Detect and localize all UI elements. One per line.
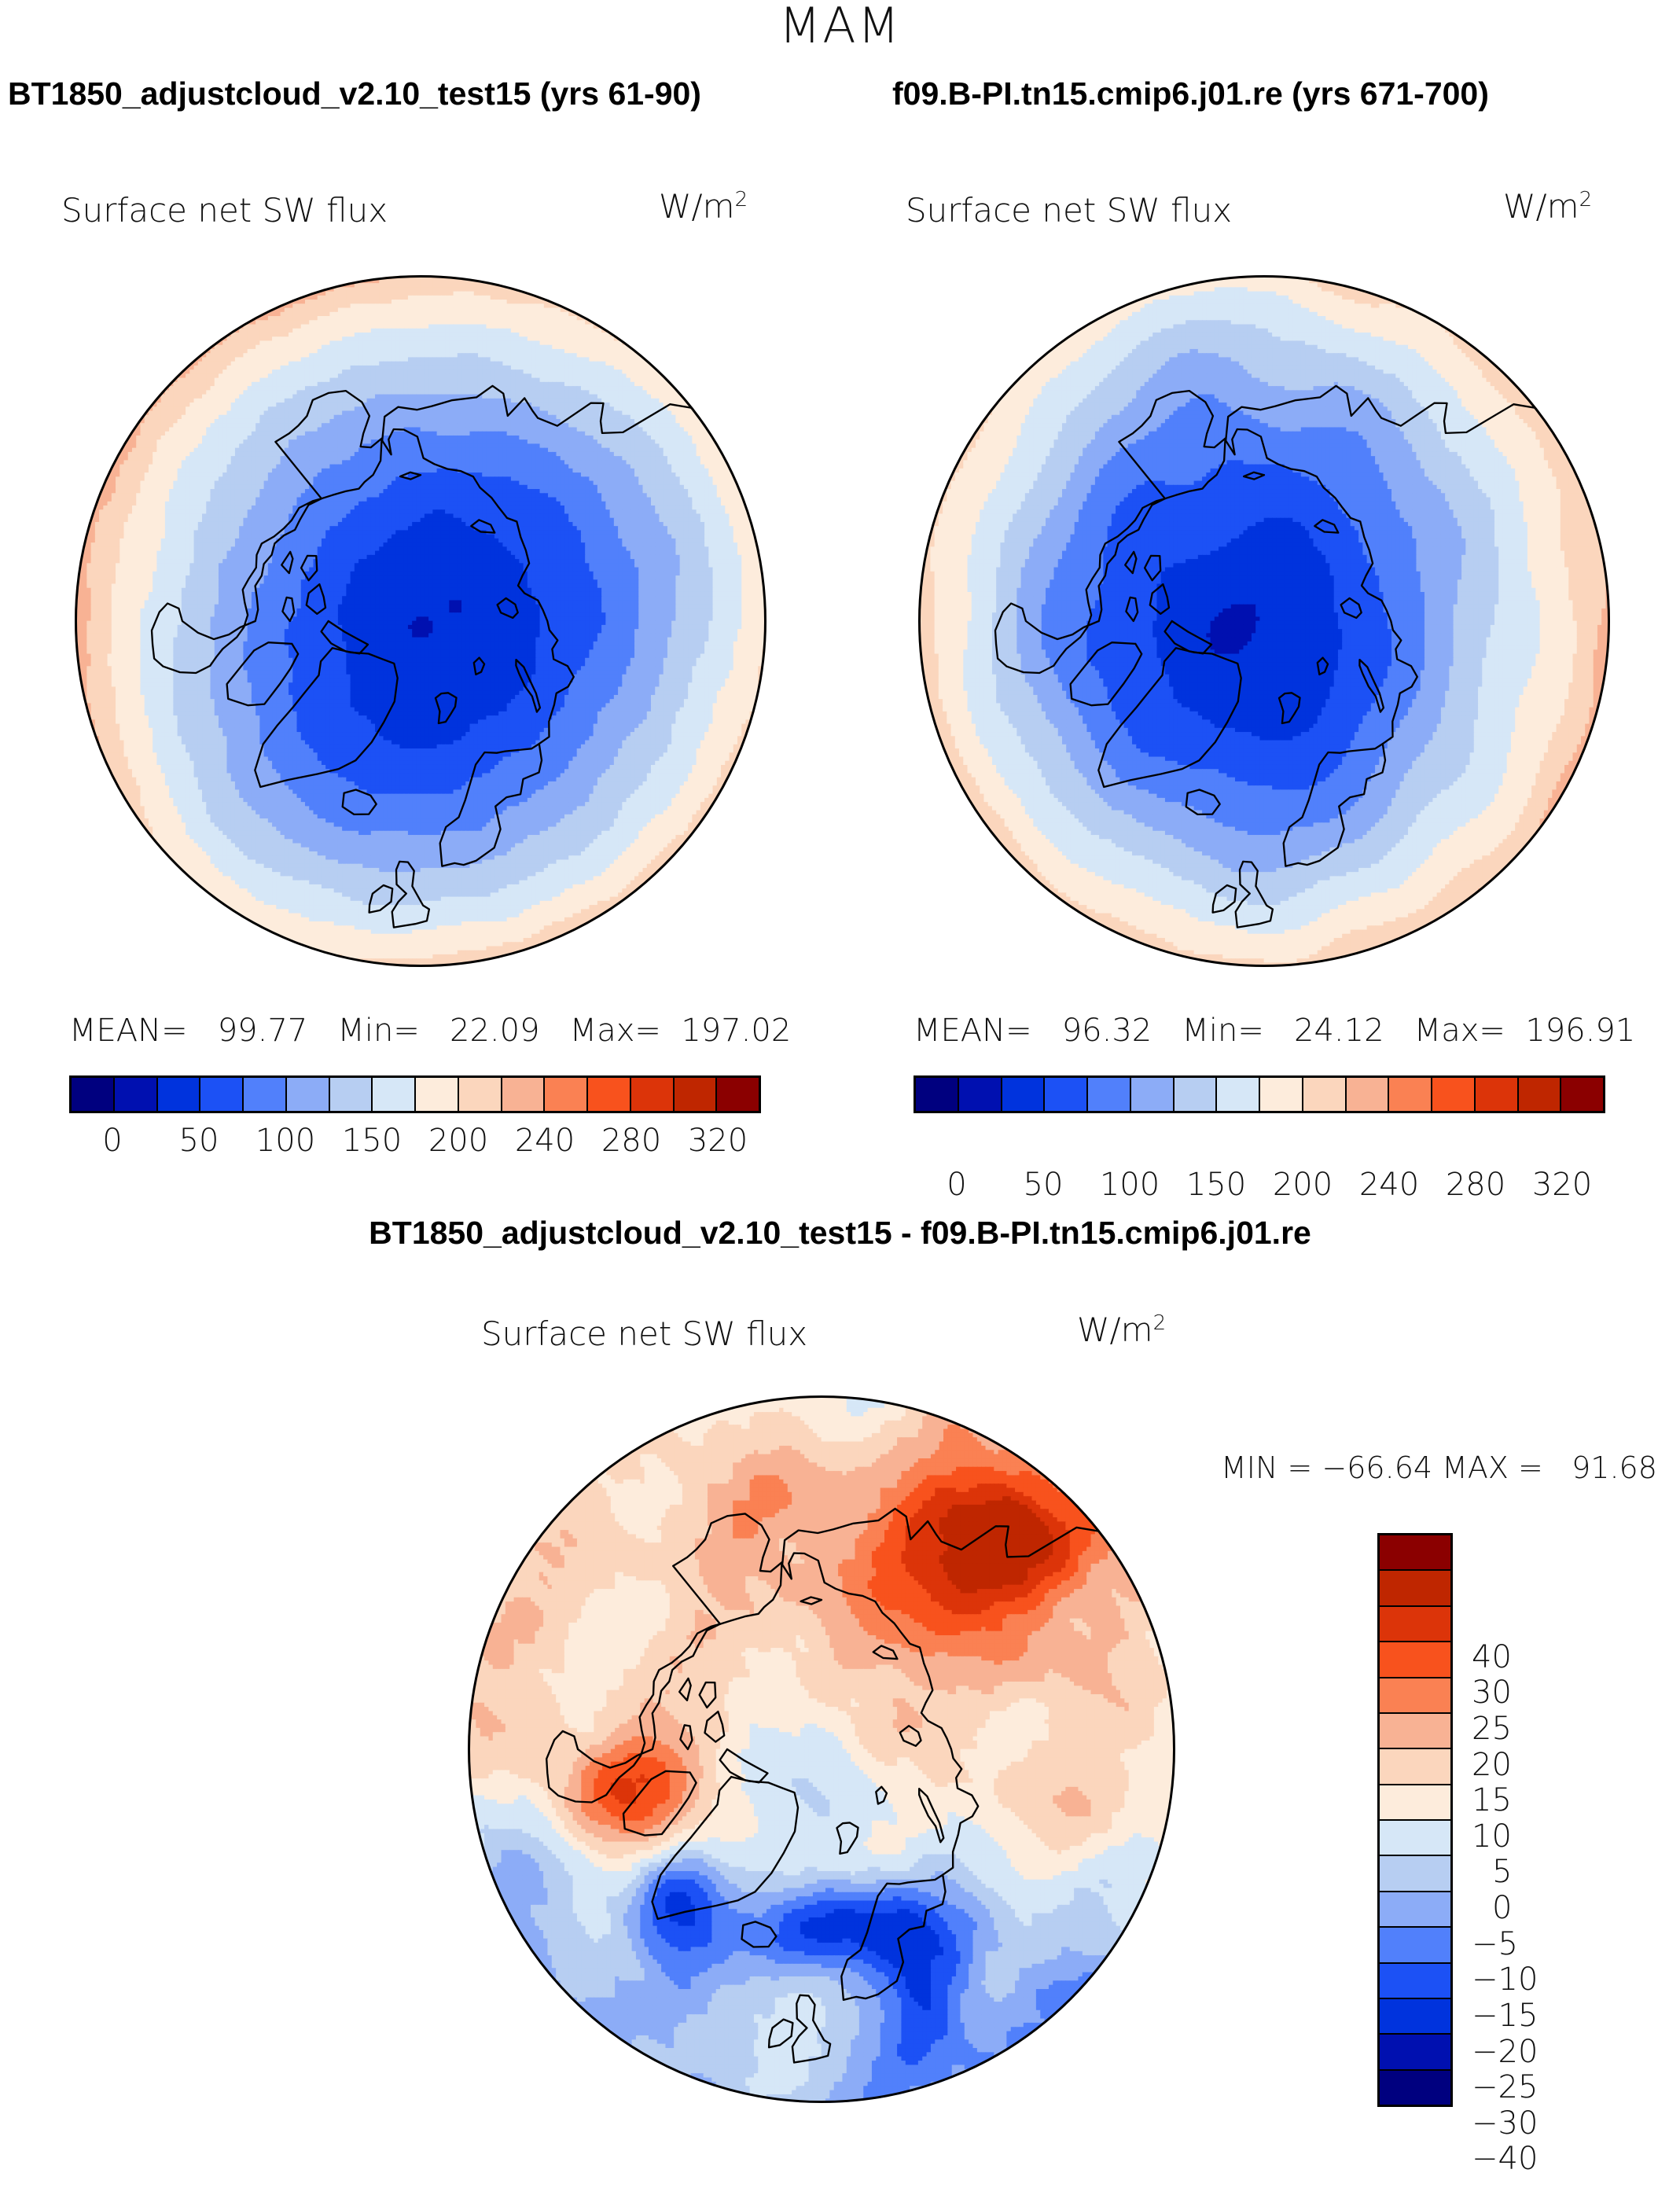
colorbar-segment: [330, 1078, 373, 1111]
colorbar-segment: [200, 1078, 244, 1111]
colorbar-tick-label: 0: [102, 1123, 122, 1159]
colorbar-tick-label: −5: [1472, 1926, 1518, 1962]
colorbar-segment: [115, 1078, 158, 1111]
colorbar-tick-label: 50: [179, 1123, 219, 1159]
colorbar-tick-label: 200: [428, 1123, 488, 1159]
colorbar-segment: [1380, 1571, 1450, 1606]
colorbar-segment: [1561, 1078, 1603, 1111]
colorbar-segment: [1380, 1535, 1450, 1571]
colorbar-tick-label: 15: [1472, 1782, 1512, 1818]
colorbar-segment: [1380, 1607, 1450, 1642]
minmax-diff: MIN = −66.64 MAX = 91.68: [1221, 1450, 1657, 1485]
colorbar-tick-label: −10: [1472, 1962, 1538, 1998]
colorbar-segment: [1432, 1078, 1476, 1111]
colorbar-segment: [1217, 1078, 1260, 1111]
colorbar-segment: [1389, 1078, 1432, 1111]
colorbar-segment: [675, 1078, 718, 1111]
colorbar-tick-label: 150: [1186, 1167, 1246, 1203]
colorbar-segment: [1476, 1078, 1519, 1111]
colorbar-tick-label: 100: [255, 1123, 315, 1159]
colorbar-diff[interactable]: [1377, 1533, 1453, 2107]
colorbar-tick-label: 50: [1024, 1167, 1064, 1203]
colorbar-tick-label: 240: [1359, 1167, 1419, 1203]
colorbar-segment: [1380, 1678, 1450, 1714]
map-right[interactable]: [918, 275, 1610, 967]
colorbar-tick-label: 25: [1472, 1711, 1512, 1747]
colorbar-tick-label: 100: [1100, 1167, 1160, 1203]
colorbar-segment: [631, 1078, 675, 1111]
colorbar-segment: [1380, 1714, 1450, 1749]
colorbar-tick-label: 320: [1532, 1167, 1592, 1203]
map-raster: [468, 1395, 1175, 2103]
unit-label-right: W/m2: [1503, 187, 1592, 226]
colorbar-segment: [1175, 1078, 1218, 1111]
colorbar-segment: [158, 1078, 201, 1111]
diff-title: BT1850_adjustcloud_v2.10_test15 - f09.B-…: [0, 1215, 1680, 1252]
colorbar-segment: [1303, 1078, 1347, 1111]
colorbar-segment: [1380, 1821, 1450, 1856]
colorbar-segment: [416, 1078, 459, 1111]
colorbar-segment: [717, 1078, 759, 1111]
colorbar-tick-label: 30: [1472, 1675, 1512, 1711]
colorbar-segment: [916, 1078, 959, 1111]
colorbar-tick-label: 40: [1472, 1639, 1512, 1675]
colorbar-segment: [502, 1078, 546, 1111]
colorbar-segment: [373, 1078, 416, 1111]
colorbar-segment: [1380, 1964, 1450, 1999]
colorbar-segment: [1380, 1892, 1450, 1928]
map-raster: [918, 275, 1610, 967]
stats-left: MEAN= 99.77 Min= 22.09 Max= 197.02: [69, 1013, 791, 1049]
colorbar-segment: [1045, 1078, 1088, 1111]
case-title-left: BT1850_adjustcloud_v2.10_test15 (yrs 61-…: [8, 75, 701, 112]
colorbar-segment: [459, 1078, 502, 1111]
colorbar-segment: [1380, 1785, 1450, 1821]
colorbar-segment: [545, 1078, 588, 1111]
colorbar-segment: [244, 1078, 287, 1111]
unit-label-left: W/m2: [659, 187, 748, 226]
colorbar-tick-label: 10: [1472, 1818, 1512, 1855]
colorbar-tick-label: 0: [947, 1167, 966, 1203]
field-label-diff: Surface net SW flux: [481, 1314, 807, 1353]
unit-exponent-right: 2: [1579, 188, 1593, 211]
colorbar-tick-label: 280: [601, 1123, 661, 1159]
colorbar-tick-label: 240: [515, 1123, 575, 1159]
colorbar-tick-label: −30: [1472, 2105, 1538, 2142]
colorbar-segment: [1380, 1749, 1450, 1785]
unit-text-right: W/m: [1503, 187, 1579, 226]
colorbar-segment: [1260, 1078, 1303, 1111]
colorbar-segment: [588, 1078, 631, 1111]
colorbar-tick-label: 280: [1446, 1167, 1505, 1203]
colorbar-segment: [1380, 2071, 1450, 2105]
colorbar-segment: [287, 1078, 330, 1111]
colorbar-left-labels: 050100150200240280320: [69, 1123, 761, 1167]
colorbar-tick-label: 0: [1492, 1890, 1512, 1926]
colorbar-tick-label: 320: [688, 1123, 748, 1159]
colorbar-tick-label: 5: [1492, 1854, 1512, 1890]
colorbar-tick-label: 150: [342, 1123, 402, 1159]
colorbar-left[interactable]: [69, 1075, 761, 1113]
colorbar-tick-label: −40: [1472, 2141, 1538, 2177]
colorbar-right-labels: 050100150200240280320: [914, 1167, 1605, 1211]
unit-exponent-left: 2: [735, 188, 748, 211]
field-label-left: Surface net SW flux: [61, 191, 388, 230]
season-title: MAM: [0, 2, 1680, 50]
colorbar-segment: [1088, 1078, 1131, 1111]
field-label-right: Surface net SW flux: [906, 191, 1232, 230]
colorbar-segment: [1347, 1078, 1390, 1111]
case-title-right: f09.B-PI.tn15.cmip6.j01.re (yrs 671-700): [892, 75, 1489, 112]
colorbar-tick-label: −25: [1472, 2069, 1538, 2105]
colorbar-segment: [1380, 1642, 1450, 1678]
colorbar-diff-labels: 40302520151050−5−10−15−20−25−30−40: [1472, 1621, 1629, 2195]
map-raster: [75, 275, 766, 967]
map-diff[interactable]: [468, 1395, 1175, 2103]
map-left[interactable]: [75, 275, 766, 967]
colorbar-segment: [1131, 1078, 1175, 1111]
colorbar-segment: [1380, 2035, 1450, 2070]
colorbar-segment: [1380, 1999, 1450, 2035]
colorbar-right[interactable]: [914, 1075, 1605, 1113]
colorbar-tick-label: −15: [1472, 1998, 1538, 2034]
colorbar-segment: [1519, 1078, 1562, 1111]
unit-text-diff: W/m: [1077, 1311, 1153, 1349]
colorbar-segment: [959, 1078, 1002, 1111]
colorbar-tick-label: −20: [1472, 2034, 1538, 2070]
colorbar-segment: [1380, 1928, 1450, 1963]
colorbar-segment: [1380, 1856, 1450, 1892]
colorbar-tick-label: 20: [1472, 1747, 1512, 1783]
unit-label-diff: W/m2: [1077, 1311, 1166, 1349]
colorbar-tick-label: 200: [1273, 1167, 1333, 1203]
stats-right: MEAN= 96.32 Min= 24.12 Max= 196.91: [914, 1013, 1635, 1049]
colorbar-segment: [72, 1078, 115, 1111]
unit-text-left: W/m: [659, 187, 735, 226]
colorbar-segment: [1002, 1078, 1046, 1111]
unit-exponent-diff: 2: [1153, 1311, 1167, 1335]
